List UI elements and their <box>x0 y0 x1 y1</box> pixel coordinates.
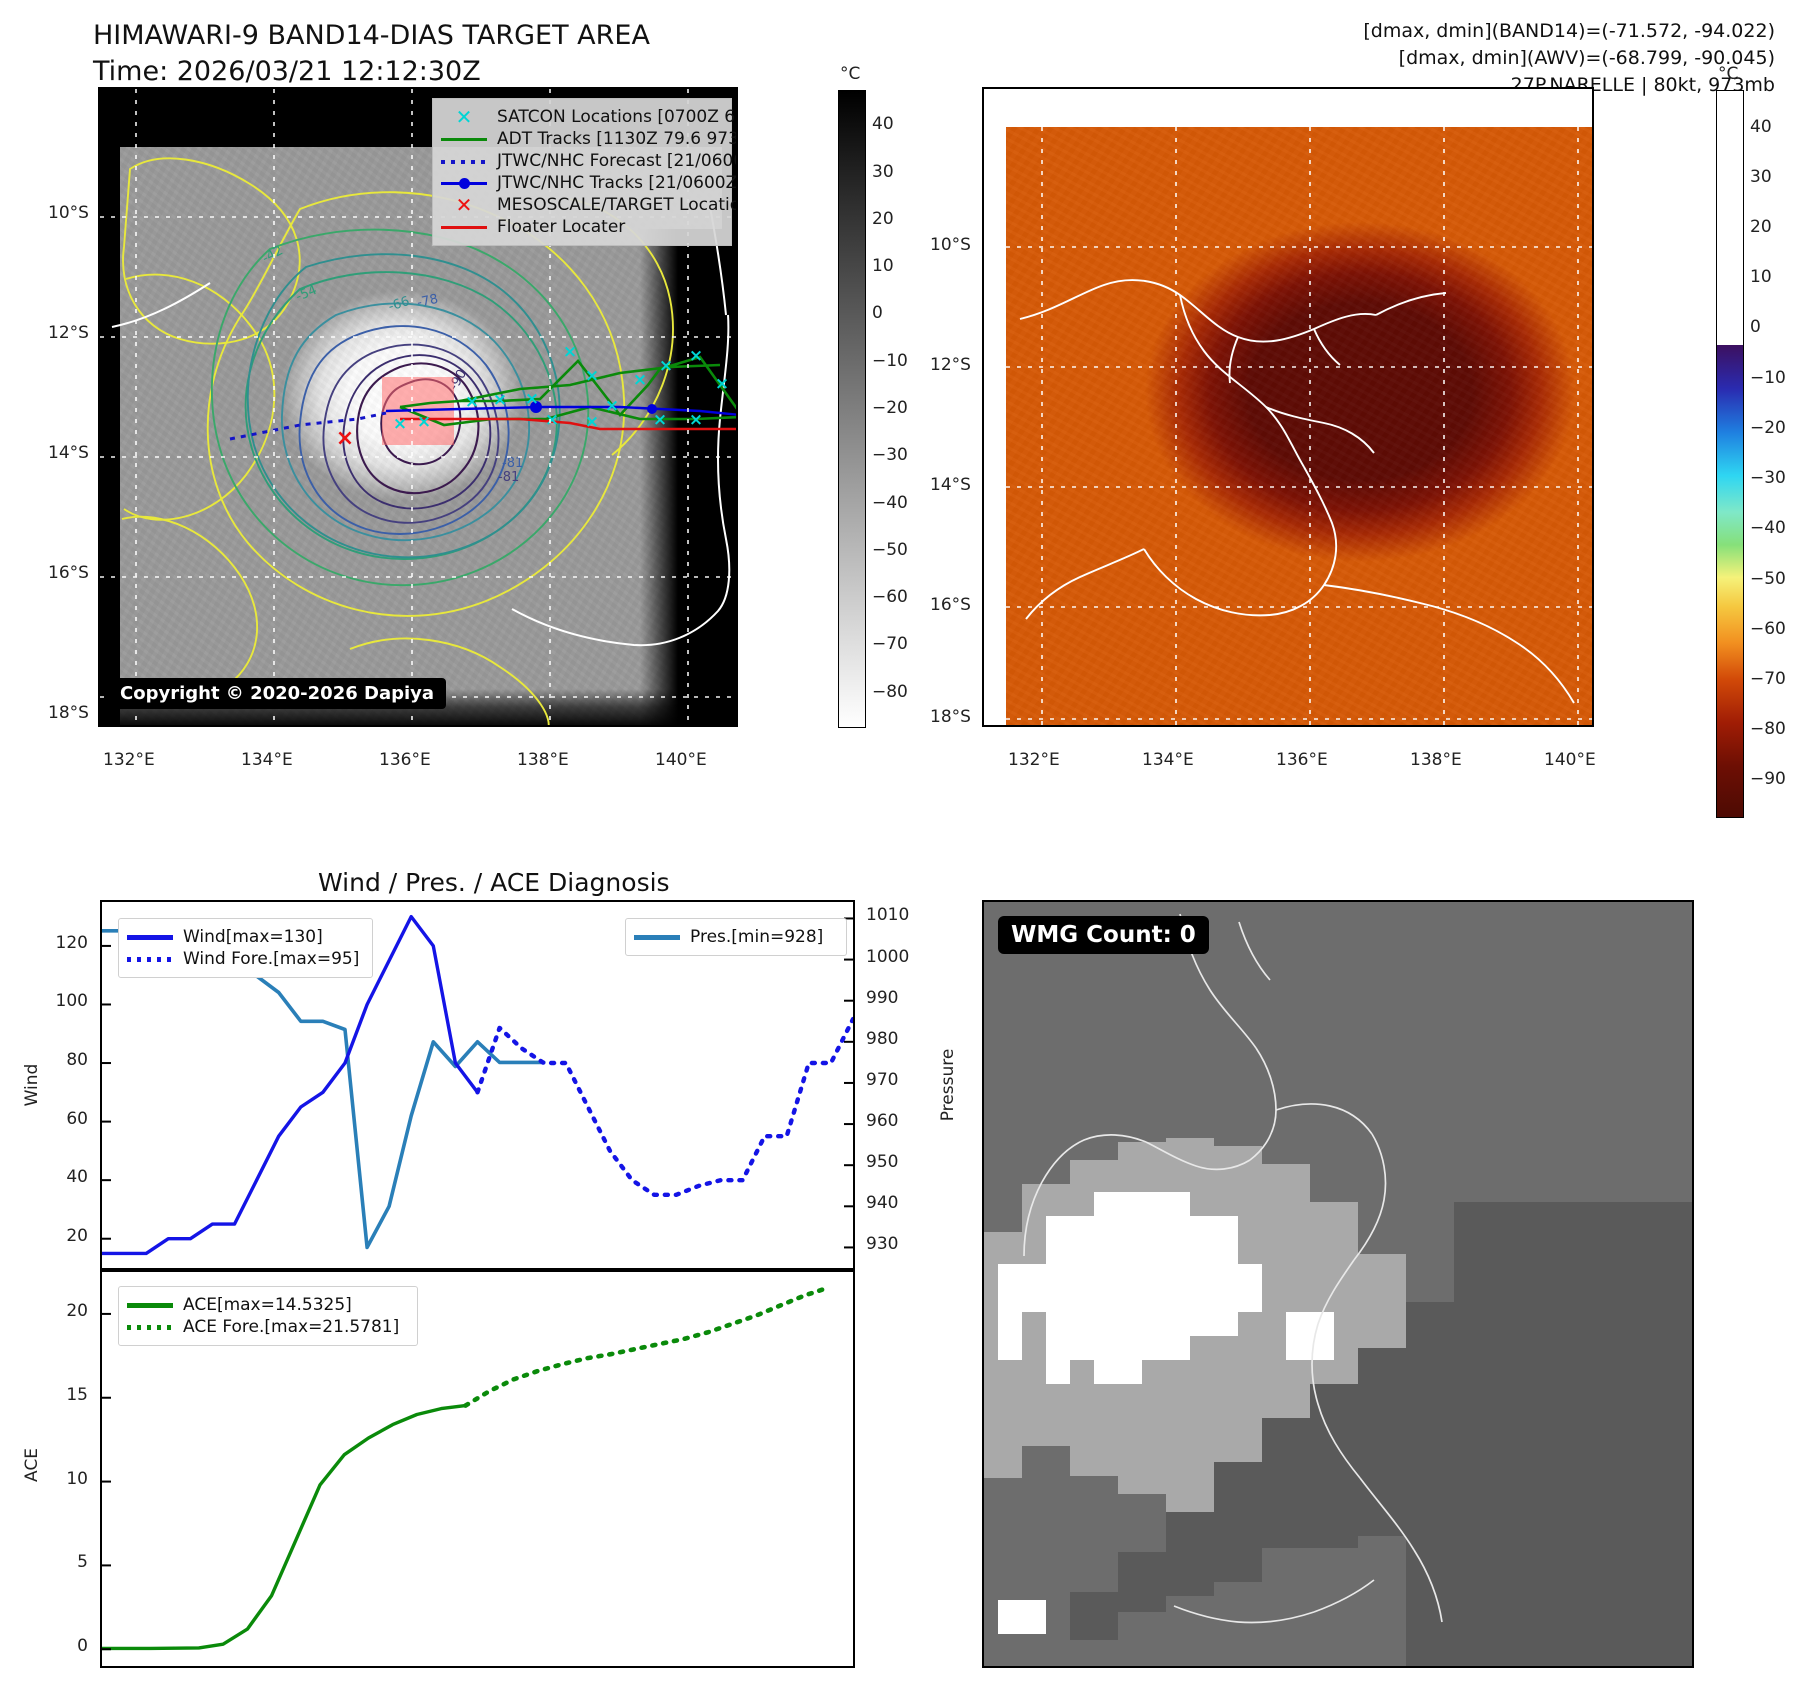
ace-axis-label: ACE <box>22 1435 42 1495</box>
colorbar-grayscale-tick-10: −60 <box>872 587 908 607</box>
page-title-line1: HIMAWARI-9 BAND14-DIAS TARGET AREA <box>93 20 650 51</box>
pressure-ytick-4: 970 <box>866 1070 898 1090</box>
legend-item-ace[interactable]: ACE[max=14.5325] <box>127 1294 407 1316</box>
colorbar-grayscale-tick-1: 30 <box>872 162 894 182</box>
svg-text:×: × <box>545 410 559 430</box>
colorbar-enhanced-tick-4: 0 <box>1750 317 1761 337</box>
colorbar-enhanced-tick-13: −90 <box>1750 769 1786 789</box>
colorbar-grayscale-tick-3: 10 <box>872 256 894 276</box>
diagnosis-chart-title: Wind / Pres. / ACE Diagnosis <box>318 868 670 897</box>
colorbar-enhanced-tick-1: 30 <box>1750 167 1772 187</box>
ace-forecast-line <box>465 1288 828 1406</box>
legend-item-wind-forecast[interactable]: Wind Fore.[max=95] <box>127 948 362 970</box>
colorbar-enhanced-tick-0: 40 <box>1750 117 1772 137</box>
pressure-ytick-2: 950 <box>866 1152 898 1172</box>
pressure-ytick-1: 940 <box>866 1193 898 1213</box>
svg-text:×: × <box>465 392 479 412</box>
colorbar-grayscale-tick-0: 40 <box>872 114 894 134</box>
svg-text:×: × <box>493 390 507 410</box>
svg-text:-54: -54 <box>294 283 319 305</box>
svg-text:-81: -81 <box>502 456 523 471</box>
colorbar-enhanced-tick-10: −60 <box>1750 619 1786 639</box>
wind-ytick-0: 20 <box>40 1226 88 1246</box>
lon-tick-140e-left: 140°E <box>655 750 707 770</box>
wind-ytick-1: 40 <box>40 1167 88 1187</box>
legend-label: JTWC/NHC Forecast [21/0600Z] <box>497 151 738 171</box>
pressure-ytick-5: 980 <box>866 1029 898 1049</box>
coastline-overlay-right <box>984 89 1594 727</box>
colorbar-grayscale-tick-12: −80 <box>872 682 908 702</box>
legend-item-mesoscale-target[interactable]: ✕ MESOSCALE/TARGET Location <box>441 194 721 216</box>
satellite-grayscale-panel[interactable]: -42 -54 -66 -78 -90 -81 -81 <box>98 87 738 727</box>
colorbar-grayscale-tick-2: 20 <box>872 209 894 229</box>
colorbar-enhanced-tick-5: −10 <box>1750 368 1786 388</box>
colorbar-enhanced-tick-3: 10 <box>1750 267 1772 287</box>
page-title-line2: Time: 2026/03/21 12:12:30Z <box>93 56 481 87</box>
svg-text:×: × <box>393 414 407 434</box>
ace-solid-icon <box>127 1297 173 1313</box>
legend-item-pressure[interactable]: Pres.[min=928] <box>634 926 836 948</box>
legend-label: ADT Tracks [1130Z 79.6 973.7] <box>497 129 738 149</box>
lat-tick-16s-right: 16°S <box>930 595 971 615</box>
colorbar-enhanced-tick-6: −20 <box>1750 418 1786 438</box>
colorbar-enhanced-tick-9: −50 <box>1750 569 1786 589</box>
lon-tick-132e-right: 132°E <box>1008 750 1060 770</box>
pressure-legend[interactable]: Pres.[min=928] <box>625 918 847 956</box>
colorbar-grayscale-tick-8: −40 <box>872 493 908 513</box>
colorbar-enhanced[interactable] <box>1716 90 1744 818</box>
pressure-ytick-8: 1010 <box>866 905 909 925</box>
pressure-ytick-7: 1000 <box>866 947 909 967</box>
wind-axis-label: Wind <box>22 1055 42 1115</box>
page-title: HIMAWARI-9 BAND14-DIAS TARGET AREATime: … <box>93 18 650 91</box>
header-info-band14: [dmax, dmin](BAND14)=(-71.572, -94.022) <box>1363 20 1775 42</box>
wind-forecast-line <box>478 1019 854 1195</box>
lat-tick-16s-left: 16°S <box>48 563 89 583</box>
lon-tick-138e-left: 138°E <box>517 750 569 770</box>
wind-ytick-4: 100 <box>40 991 88 1011</box>
legend-label: Wind Fore.[max=95] <box>183 949 359 969</box>
wind-solid-icon <box>127 929 173 945</box>
pressure-ytick-6: 990 <box>866 988 898 1008</box>
colorbar-grayscale-tick-11: −70 <box>872 634 908 654</box>
lat-tick-14s-right: 14°S <box>930 475 971 495</box>
colorbar-grayscale-tick-5: −10 <box>872 351 908 371</box>
wind-ytick-5: 120 <box>40 933 88 953</box>
colorbar-grayscale-tick-9: −50 <box>872 540 908 560</box>
colorbar-enhanced-tick-11: −70 <box>1750 669 1786 689</box>
lat-tick-12s-left: 12°S <box>48 323 89 343</box>
satcon-x-icon: ✕ <box>441 109 487 125</box>
ace-line <box>102 1406 465 1649</box>
pressure-solid-icon <box>634 929 680 945</box>
legend-item-jtwc-forecast[interactable]: JTWC/NHC Forecast [21/0600Z] <box>441 150 721 172</box>
colorbar-enhanced-tick-8: −40 <box>1750 518 1786 538</box>
colorbar-enhanced-unit: °C <box>1718 64 1738 84</box>
wmg-cells <box>984 902 1692 1666</box>
legend-item-wind[interactable]: Wind[max=130] <box>127 926 362 948</box>
colorbar-grayscale-unit: °C <box>840 64 860 84</box>
svg-text:×: × <box>585 412 599 432</box>
svg-text:×: × <box>336 426 354 451</box>
forecast-dotted-icon <box>441 153 487 169</box>
legend-label: Pres.[min=928] <box>690 927 823 947</box>
colorbar-enhanced-tick-2: 20 <box>1750 217 1772 237</box>
lon-tick-140e-right: 140°E <box>1544 750 1596 770</box>
lon-tick-134e-right: 134°E <box>1142 750 1194 770</box>
ace-legend[interactable]: ACE[max=14.5325] ACE Fore.[max=21.5781] <box>118 1286 418 1346</box>
svg-text:×: × <box>689 410 703 430</box>
svg-text:×: × <box>585 366 599 386</box>
legend-label: ACE Fore.[max=21.5781] <box>183 1317 399 1337</box>
svg-text:×: × <box>633 370 647 390</box>
lon-tick-136e-left: 136°E <box>379 750 431 770</box>
lat-tick-10s-left: 10°S <box>48 203 89 223</box>
legend-label: MESOSCALE/TARGET Location <box>497 195 738 215</box>
adt-line-icon <box>441 131 487 147</box>
svg-text:-42: -42 <box>260 243 286 266</box>
colorbar-enhanced-tick-7: −30 <box>1750 468 1786 488</box>
lat-tick-10s-right: 10°S <box>930 235 971 255</box>
wmg-count-badge: WMG Count: 0 <box>998 916 1209 954</box>
legend-item-floater-locater[interactable]: Floater Locater <box>441 216 721 238</box>
wind-ytick-2: 60 <box>40 1109 88 1129</box>
wind-forecast-dotted-icon <box>127 951 173 967</box>
lon-tick-136e-right: 136°E <box>1276 750 1328 770</box>
dashboard-root: HIMAWARI-9 BAND14-DIAS TARGET AREATime: … <box>0 0 1797 1690</box>
legend-item-adt-tracks[interactable]: ADT Tracks [1130Z 79.6 973.7] <box>441 128 721 150</box>
wind-ytick-3: 80 <box>40 1050 88 1070</box>
wmg-panel[interactable]: WMG Count: 0 <box>982 900 1694 1668</box>
svg-text:×: × <box>689 346 703 366</box>
track-line-dot-icon <box>441 175 487 191</box>
ace-ytick-2: 10 <box>40 1469 88 1489</box>
lon-tick-134e-left: 134°E <box>241 750 293 770</box>
wind-legend[interactable]: Wind[max=130] Wind Fore.[max=95] <box>118 918 373 978</box>
lon-tick-138e-right: 138°E <box>1410 750 1462 770</box>
ace-ytick-1: 5 <box>40 1552 88 1572</box>
ace-ytick-4: 20 <box>40 1301 88 1321</box>
legend-label: ACE[max=14.5325] <box>183 1295 352 1315</box>
lat-tick-18s-right: 18°S <box>930 707 971 727</box>
colorbar-enhanced-tick-12: −80 <box>1750 719 1786 739</box>
legend-item-ace-forecast[interactable]: ACE Fore.[max=21.5781] <box>127 1316 407 1338</box>
svg-text:×: × <box>605 396 619 416</box>
svg-text:×: × <box>653 410 667 430</box>
ace-forecast-dotted-icon <box>127 1319 173 1335</box>
satellite-enhanced-panel[interactable] <box>982 87 1594 727</box>
pressure-ytick-3: 960 <box>866 1111 898 1131</box>
svg-text:-81: -81 <box>498 470 519 485</box>
svg-text:×: × <box>525 389 539 409</box>
colorbar-grayscale[interactable] <box>838 90 866 728</box>
svg-text:×: × <box>659 356 673 376</box>
svg-text:×: × <box>715 374 729 394</box>
legend-label: Floater Locater <box>497 217 625 237</box>
copyright-badge: Copyright © 2020-2026 Dapiya <box>108 678 446 709</box>
colorbar-grayscale-tick-7: −30 <box>872 445 908 465</box>
colorbar-grayscale-tick-6: −20 <box>872 398 908 418</box>
legend-item-satcon[interactable]: ✕ SATCON Locations [0700Z 60 982] <box>441 106 721 128</box>
ace-ytick-0: 0 <box>40 1636 88 1656</box>
lat-tick-18s-left: 18°S <box>48 703 89 723</box>
legend-label: SATCON Locations [0700Z 60 982] <box>497 107 738 127</box>
lat-tick-14s-left: 14°S <box>48 443 89 463</box>
ace-ytick-3: 15 <box>40 1385 88 1405</box>
legend-label: JTWC/NHC Tracks [21/0600Z] <box>497 173 738 193</box>
floater-line-icon <box>441 219 487 235</box>
svg-text:×: × <box>417 412 431 432</box>
target-x-icon: ✕ <box>441 197 487 213</box>
legend-item-jtwc-tracks[interactable]: JTWC/NHC Tracks [21/0600Z] <box>441 172 721 194</box>
map-legend[interactable]: ✕ SATCON Locations [0700Z 60 982] ADT Tr… <box>432 98 732 246</box>
legend-label: Wind[max=130] <box>183 927 323 947</box>
colorbar-grayscale-tick-4: 0 <box>872 303 883 323</box>
svg-text:-66: -66 <box>387 294 412 315</box>
lat-tick-12s-right: 12°S <box>930 355 971 375</box>
pressure-axis-label: Pressure <box>938 1045 958 1125</box>
lon-tick-132e-left: 132°E <box>103 750 155 770</box>
pressure-ytick-0: 930 <box>866 1234 898 1254</box>
svg-text:×: × <box>563 342 577 362</box>
